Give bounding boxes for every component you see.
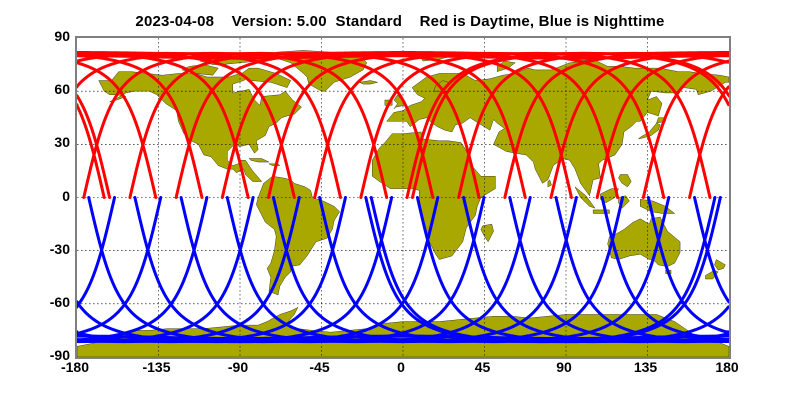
ground-track-map: 2023-04-08 Version: 5.00 Standard Red is… <box>0 0 800 400</box>
daytime-track-0-seg-0 <box>77 96 110 198</box>
landmass-iceland <box>360 81 378 85</box>
x-tick-45: 45 <box>453 359 513 375</box>
nighttime-track-4-seg-0 <box>77 198 253 342</box>
x-tick--180: -180 <box>45 359 105 375</box>
nighttime-track-1-seg-0 <box>77 198 115 307</box>
landmass-srilanka <box>548 180 552 187</box>
x-tick--45: -45 <box>290 359 350 375</box>
landmass-new-zealand-n <box>715 260 726 271</box>
y-axis-tick-labels: 9060300-30-60-90 <box>0 36 70 355</box>
y-tick-60: 60 <box>8 82 70 96</box>
x-tick--90: -90 <box>208 359 268 375</box>
x-tick-90: 90 <box>534 359 594 375</box>
nighttime-track-2-seg-0 <box>77 198 161 334</box>
x-tick-135: 135 <box>616 359 676 375</box>
daytime-polar-cap-arc-2 <box>77 56 729 58</box>
y-tick-90: 90 <box>8 29 70 43</box>
landmass-cuba <box>249 159 269 163</box>
x-tick-0: 0 <box>371 359 431 375</box>
x-axis-tick-labels: -180-135-90-4504590135180 <box>75 359 727 381</box>
landmass-new-guinea <box>640 199 674 213</box>
y-tick--60: -60 <box>8 295 70 309</box>
plot-area <box>75 36 731 359</box>
page-title: 2023-04-08 Version: 5.00 Standard Red is… <box>0 13 800 30</box>
x-tick-180: 180 <box>697 359 757 375</box>
y-tick-30: 30 <box>8 135 70 149</box>
map-canvas <box>77 38 729 357</box>
landmass-madagascar <box>481 224 494 242</box>
y-tick--30: -30 <box>8 242 70 256</box>
y-tick-0: 0 <box>8 189 70 203</box>
landmass-philippines <box>619 174 632 186</box>
daytime-track-14-seg-0 <box>77 105 104 198</box>
x-tick--135: -135 <box>127 359 187 375</box>
landmass-hispaniola <box>269 164 280 166</box>
